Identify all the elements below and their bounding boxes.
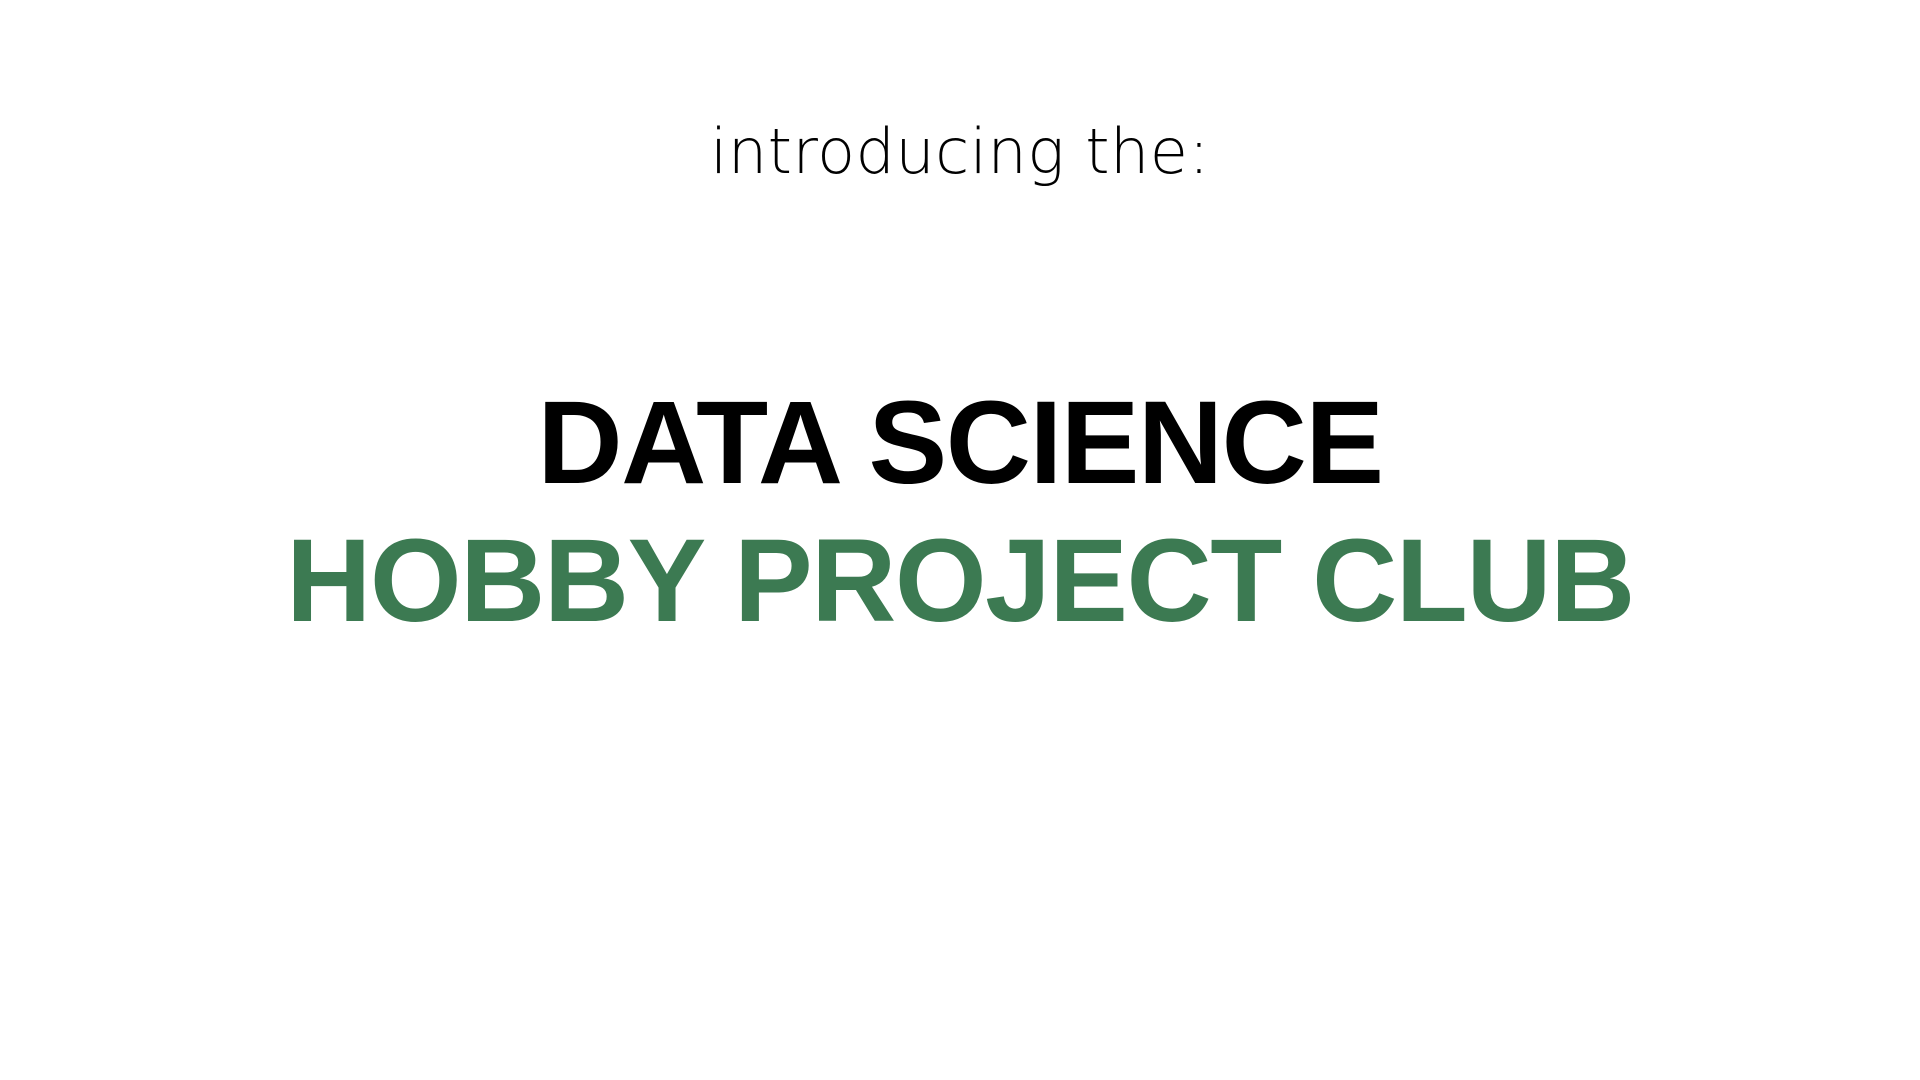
slide-title-block: DATA SCIENCE HOBBY PROJECT CLUB	[0, 374, 1920, 650]
title-slide: introducing the: DATA SCIENCE HOBBY PROJ…	[0, 0, 1920, 1080]
slide-kicker: introducing the:	[0, 118, 1920, 186]
slide-title-primary: DATA SCIENCE	[0, 374, 1920, 512]
slide-title-accent: HOBBY PROJECT CLUB	[0, 512, 1920, 650]
